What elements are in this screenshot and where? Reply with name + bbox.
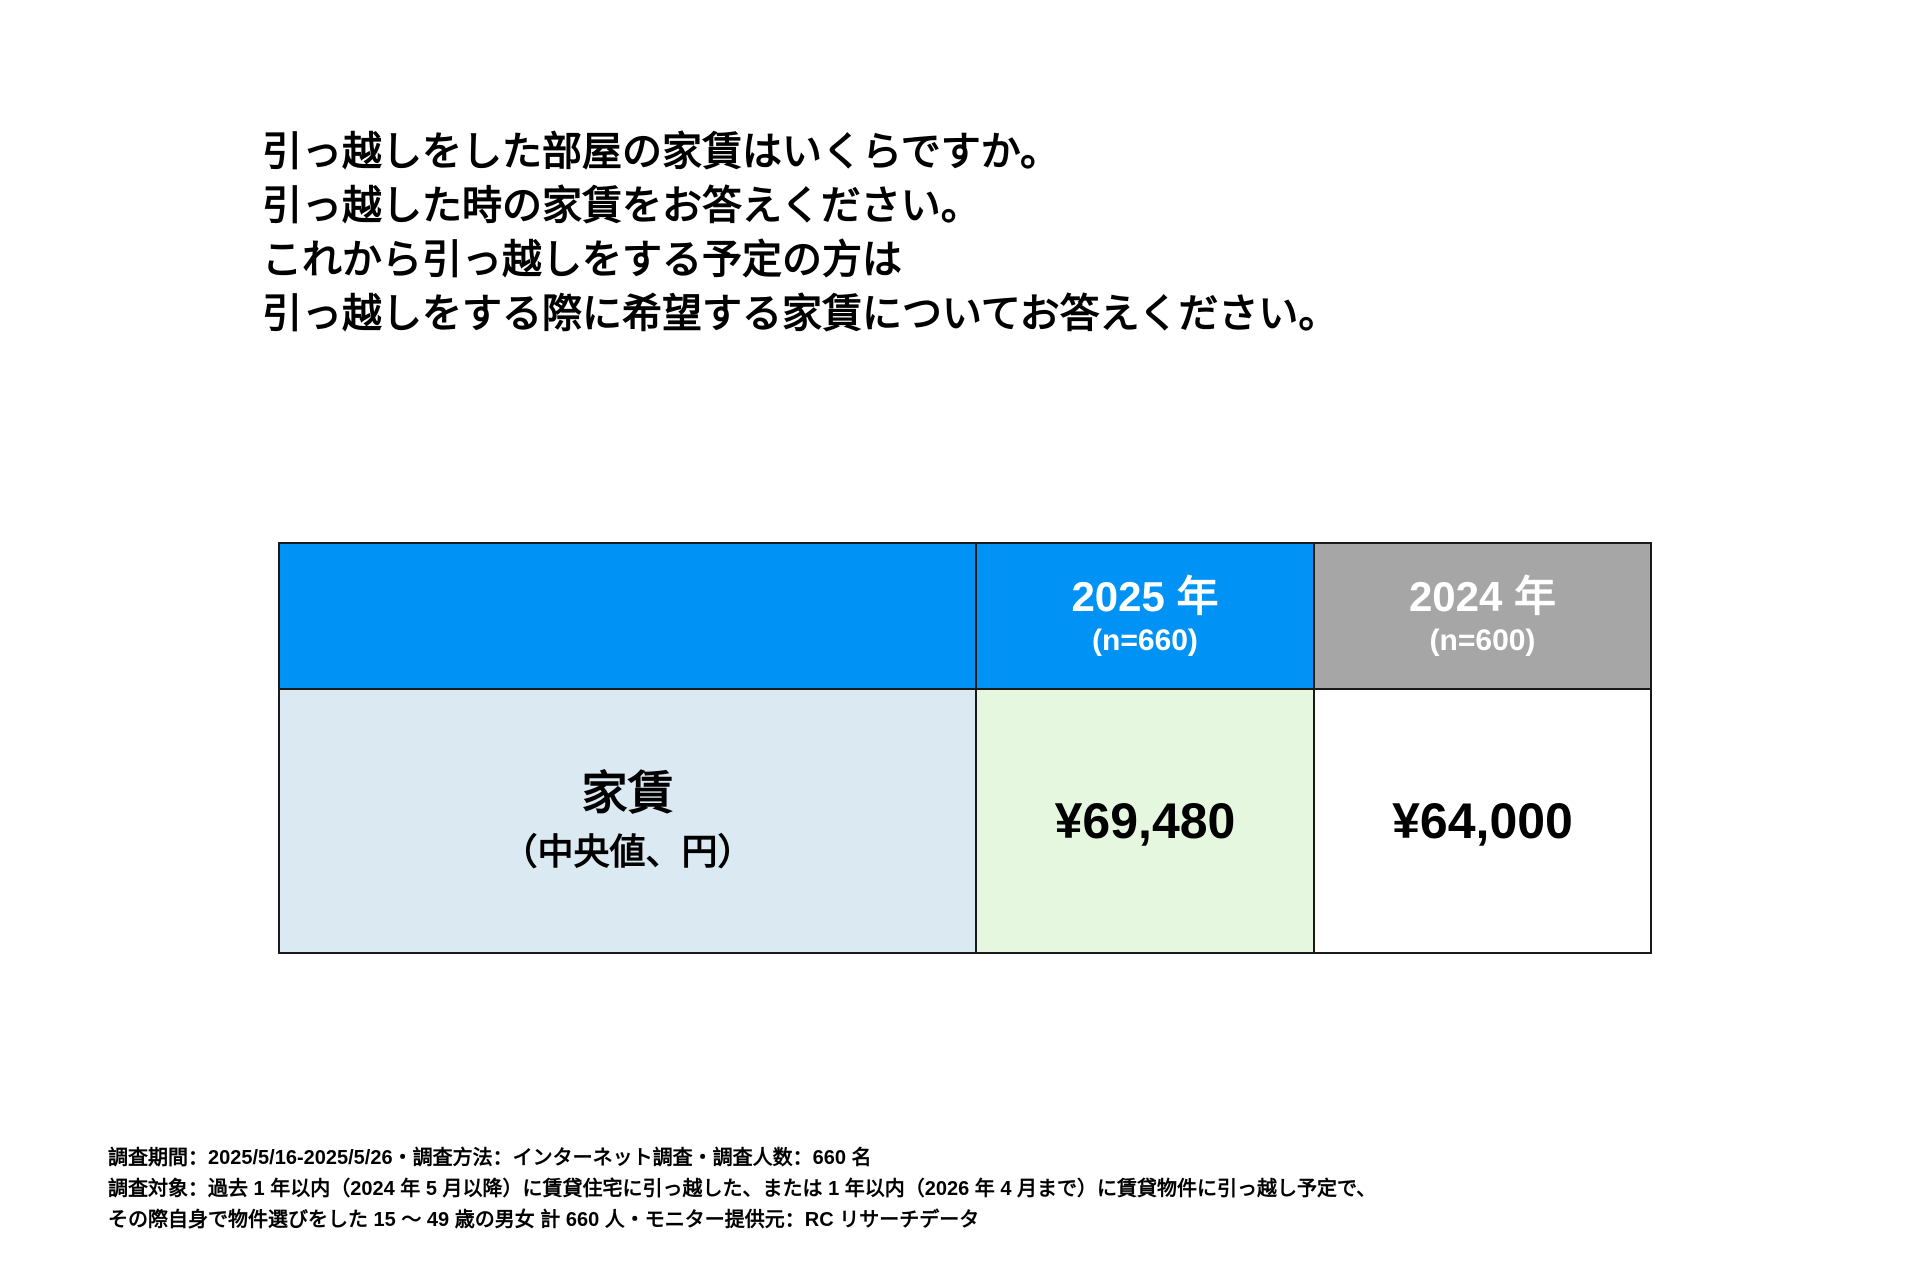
- value-cell-2025: ¥69,480: [976, 689, 1314, 953]
- header-cell-blank: [279, 543, 976, 689]
- header-2025-sample-size: (n=660): [977, 622, 1313, 660]
- title-line-4: 引っ越しをする際に希望する家賃についてお答えください。: [262, 287, 1662, 341]
- header-cell-2025: 2025 年 (n=660): [976, 543, 1314, 689]
- header-2024-year: 2024 年: [1315, 572, 1650, 622]
- header-cell-2024: 2024 年 (n=600): [1314, 543, 1651, 689]
- header-2025-year: 2025 年: [977, 572, 1313, 622]
- title-line-2: 引っ越した時の家賃をお答えください。: [262, 179, 1662, 233]
- rent-comparison-table: 2025 年 (n=660) 2024 年 (n=600) 家賃 （中央値、円）…: [278, 542, 1652, 954]
- header-2024-sample-size: (n=600): [1315, 622, 1650, 660]
- row-label-sub: （中央値、円）: [280, 824, 975, 880]
- row-label-main: 家賃: [280, 762, 975, 824]
- footnote-line-3: その際自身で物件選びをした 15 〜 49 歳の男女 計 660 人・モニター提…: [108, 1205, 1828, 1236]
- row-label-rent: 家賃 （中央値、円）: [279, 689, 976, 953]
- survey-footnote: 調査期間：2025/5/16-2025/5/26・調査方法：インターネット調査・…: [108, 1143, 1828, 1236]
- table-header-row: 2025 年 (n=660) 2024 年 (n=600): [279, 543, 1651, 689]
- page-title: 引っ越しをした部屋の家賃はいくらですか。 引っ越した時の家賃をお答えください。 …: [262, 125, 1662, 341]
- table-row: 家賃 （中央値、円） ¥69,480 ¥64,000: [279, 689, 1651, 953]
- footnote-line-2: 調査対象：過去 1 年以内（2024 年 5 月以降）に賃貸住宅に引っ越した、ま…: [108, 1174, 1828, 1205]
- value-cell-2024: ¥64,000: [1314, 689, 1651, 953]
- title-line-1: 引っ越しをした部屋の家賃はいくらですか。: [262, 125, 1662, 179]
- title-line-3: これから引っ越しをする予定の方は: [262, 233, 1662, 287]
- footnote-line-1: 調査期間：2025/5/16-2025/5/26・調査方法：インターネット調査・…: [108, 1143, 1828, 1174]
